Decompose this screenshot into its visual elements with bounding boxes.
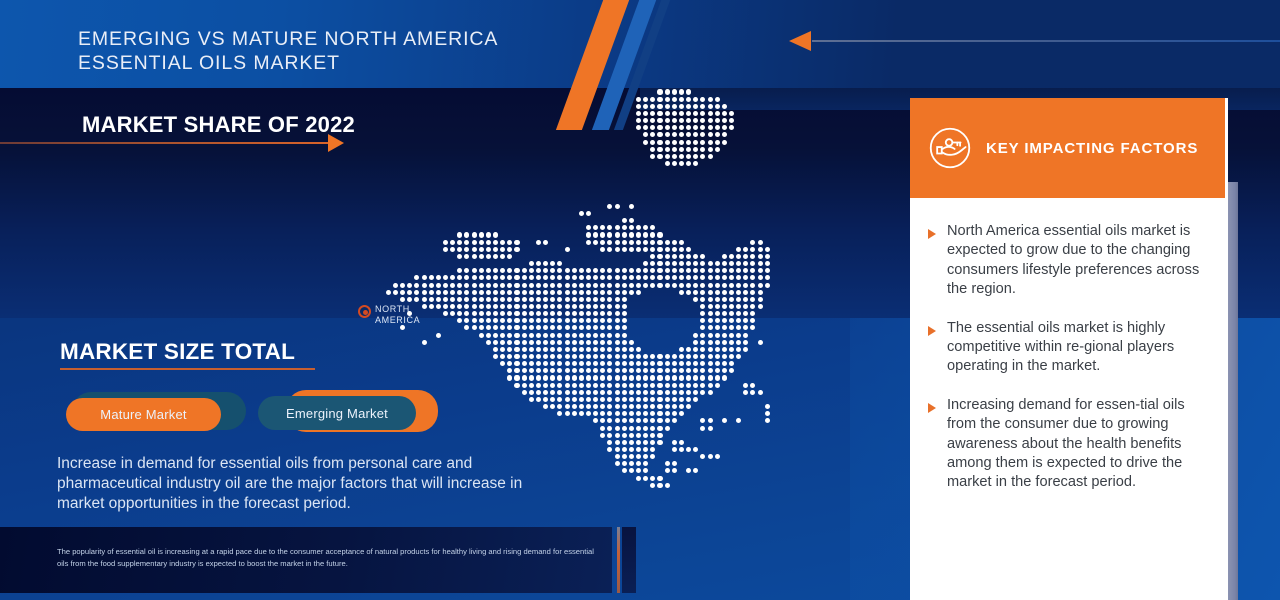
north-america-label: NORTH AMERICA xyxy=(375,304,420,326)
market-share-rule xyxy=(0,142,330,144)
north-america-label-line-1: NORTH xyxy=(375,304,420,315)
hand-holding-key-icon xyxy=(928,126,972,170)
key-factors-panel-shadow xyxy=(1228,182,1238,600)
market-share-arrow-icon xyxy=(328,134,344,152)
page-title: EMERGING VS MATURE NORTH AMERICA ESSENTI… xyxy=(78,27,598,75)
page-title-line-1: EMERGING VS MATURE NORTH AMERICA xyxy=(78,28,498,50)
legend-pill-label-emerging: Emerging Market xyxy=(258,396,416,430)
legend-pill-mature-market[interactable]: Mature Market xyxy=(66,392,246,436)
list-item: North America essential oils market is e… xyxy=(928,222,1216,300)
list-item: Increasing demand for essen-tial oils fr… xyxy=(928,396,1216,493)
header-arrow-head-icon xyxy=(789,31,811,51)
north-america-marker-icon xyxy=(358,305,371,318)
north-america-label-line-2: AMERICA xyxy=(375,315,420,326)
list-item-text: North America essential oils market is e… xyxy=(947,222,1216,300)
market-size-heading: MARKET SIZE TOTAL xyxy=(60,339,295,365)
market-share-heading: MARKET SHARE OF 2022 xyxy=(82,112,355,138)
footer-note: The popularity of essential oil is incre… xyxy=(57,546,602,569)
footer-band-tail xyxy=(622,527,636,593)
key-factors-panel-header: KEY IMPACTING FACTORS xyxy=(910,98,1225,198)
list-item-text: The essential oils market is highly comp… xyxy=(947,319,1216,377)
infographic-canvas: EMERGING VS MATURE NORTH AMERICA ESSENTI… xyxy=(0,0,1280,600)
header-arrow-line xyxy=(812,40,1280,42)
list-item: The essential oils market is highly comp… xyxy=(928,319,1216,377)
key-factors-panel-title: KEY IMPACTING FACTORS xyxy=(986,140,1198,157)
list-item-text: Increasing demand for essen-tial oils fr… xyxy=(947,396,1216,493)
bullet-arrow-icon xyxy=(928,229,937,239)
market-size-rule xyxy=(60,368,315,370)
legend-pill-emerging-market[interactable]: Emerging Market xyxy=(258,390,442,438)
legend-pill-label-mature: Mature Market xyxy=(66,398,221,431)
bullet-arrow-icon xyxy=(928,403,937,413)
market-size-body-text: Increase in demand for essential oils fr… xyxy=(57,454,557,514)
footer-band-separator xyxy=(617,527,620,593)
key-factors-list: North America essential oils market is e… xyxy=(928,222,1216,512)
bullet-arrow-icon xyxy=(928,326,937,336)
page-title-line-2: ESSENTIAL OILS MARKET xyxy=(78,51,598,75)
